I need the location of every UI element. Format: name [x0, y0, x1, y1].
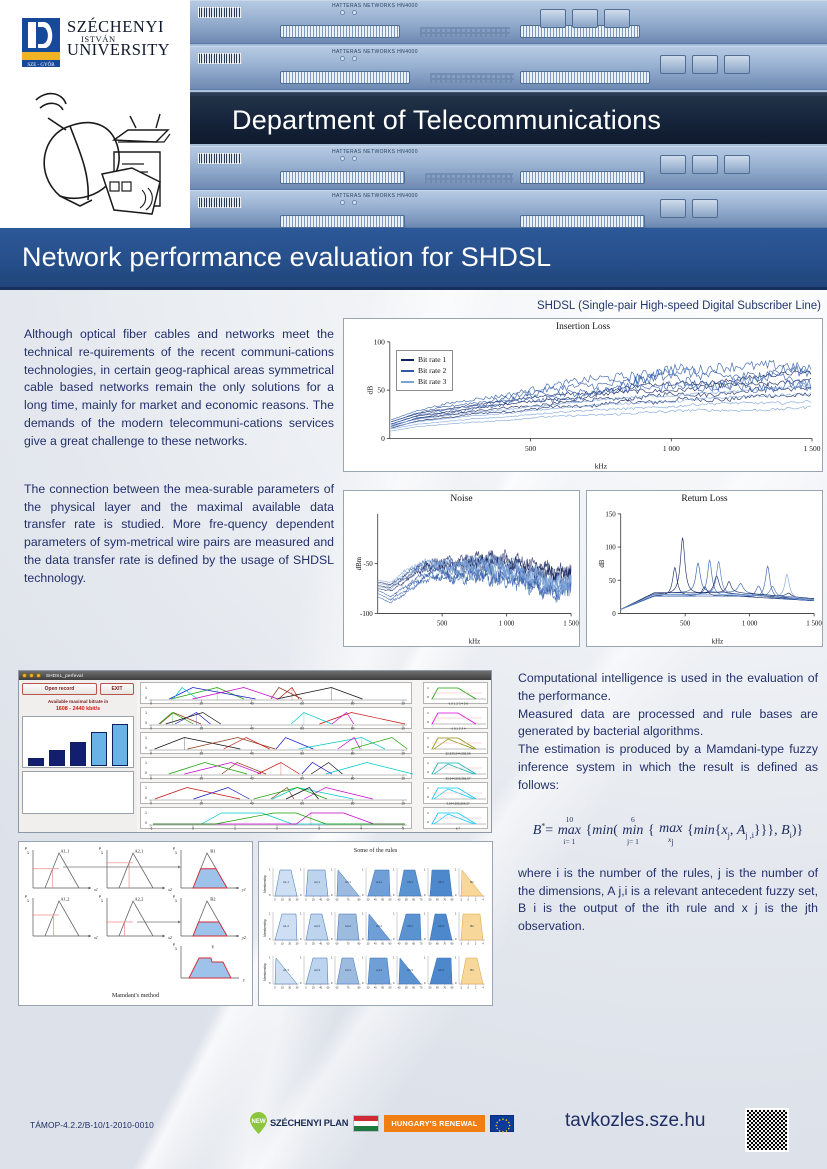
rules-caption: Some of the rules	[259, 847, 492, 854]
legend-label-series-3: Bit rate 3	[418, 377, 446, 386]
svg-text:20: 20	[288, 986, 291, 989]
svg-text:10: 10	[401, 802, 405, 805]
bitrate-bar	[70, 742, 86, 766]
svg-text:100: 100	[374, 337, 385, 346]
svg-text:μ: μ	[25, 845, 27, 850]
new-badge-label: NEW	[252, 1119, 266, 1125]
svg-text:60: 60	[336, 986, 339, 989]
svg-text:50: 50	[609, 578, 616, 585]
rule-set-label: A1,2	[283, 924, 289, 928]
svg-text:0: 0	[424, 937, 426, 941]
hungarys-renewal-label: HUNGARY'S RENEWAL	[384, 1115, 484, 1132]
svg-text:60: 60	[381, 898, 384, 901]
legend-item: Bit rate 1	[401, 354, 446, 365]
svg-text:1: 1	[269, 868, 271, 872]
svg-text:70: 70	[443, 898, 446, 901]
svg-text:60: 60	[436, 898, 439, 901]
left-paragraph-1: Although optical fiber cables and networ…	[24, 326, 334, 451]
svg-text:-50: -50	[364, 561, 374, 568]
svg-text:1: 1	[145, 761, 147, 765]
svg-text:0: 0	[331, 981, 333, 985]
software-membership-pane: 10-1 0 1 2 3 4 5 610-1 0 1 2 3 41022,533…	[420, 680, 492, 833]
svg-text:A1,2: A1,2	[60, 897, 70, 903]
svg-text:70: 70	[347, 986, 350, 989]
svg-text:1: 1	[393, 956, 395, 960]
svg-text:2: 2	[276, 827, 278, 830]
svg-text:0: 0	[145, 771, 147, 775]
svg-text:1: 1	[424, 912, 426, 916]
svg-text:0: 0	[468, 898, 470, 901]
membership-axis-label: 22,533,544,555,56	[445, 751, 470, 755]
formula-min-3: min	[694, 823, 715, 838]
exit-button[interactable]: EXIT	[100, 683, 134, 695]
bitrate-caption: Available maximal bitrate in	[22, 699, 134, 705]
rule-set-label: A1,3	[283, 968, 289, 972]
svg-text:Membership: Membership	[263, 875, 267, 893]
crest-label: SZE - GYŐR	[27, 62, 55, 67]
svg-text:80: 80	[351, 702, 355, 705]
svg-text:80: 80	[351, 752, 355, 755]
bitrate-bar	[28, 758, 44, 766]
svg-text:B1: B1	[210, 849, 216, 854]
svg-text:x2: x2	[167, 935, 172, 940]
svg-text:50: 50	[429, 898, 432, 901]
bitrate-bar	[91, 732, 107, 766]
svg-text:70: 70	[420, 898, 423, 901]
membership-axis-label: 3,544,555,566,57	[446, 801, 470, 805]
svg-text:40: 40	[250, 752, 254, 755]
svg-text:0: 0	[269, 893, 271, 897]
svg-text:50: 50	[429, 942, 432, 945]
rule-set-label: A6,1	[438, 880, 444, 884]
rule-set-label: A5,1	[407, 880, 413, 884]
svg-text:60: 60	[412, 942, 415, 945]
svg-text:1: 1	[269, 956, 271, 960]
svg-text:0: 0	[468, 942, 470, 945]
membership-axis-label: 33,544,555,566,57	[445, 776, 470, 780]
mamdani-formula: B*= 10 max i= 1 {min( 6 min j= 1 { max x…	[518, 815, 818, 847]
rule-set-label: A1,1	[283, 880, 289, 884]
svg-text:-2: -2	[460, 898, 463, 901]
svg-text:dB: dB	[599, 559, 606, 567]
svg-text:0: 0	[150, 702, 152, 705]
svg-text:1: 1	[362, 912, 364, 916]
rule-set-label: A3,3	[345, 968, 351, 972]
svg-text:1: 1	[234, 827, 236, 830]
svg-text:A2,2: A2,2	[134, 897, 144, 903]
formula-equals: =	[545, 823, 553, 838]
mamdani-caption: Mamdani's method	[19, 992, 252, 999]
svg-text:1: 1	[331, 912, 333, 916]
svg-text:80: 80	[389, 986, 392, 989]
legend-insertion-loss: Bit rate 1 Bit rate 2 Bit rate 3	[396, 350, 453, 391]
poster-footer: TÁMOP-4.2.2/B-10/1-2010-0010 NEW SZÉCHEN…	[0, 1090, 827, 1169]
legend-item: Bit rate 2	[401, 365, 446, 376]
svg-text:1 500: 1 500	[804, 444, 821, 453]
poster-title-bar: Network performance evaluation for SHDSL	[0, 228, 827, 290]
svg-text:0: 0	[468, 986, 470, 989]
window-title: SHDSL_perfeval	[46, 673, 83, 678]
svg-text:1: 1	[362, 956, 364, 960]
rule-set-label: A2,2	[314, 924, 320, 928]
svg-text:1: 1	[145, 686, 147, 690]
svg-text:0: 0	[427, 745, 429, 749]
svg-text:1: 1	[427, 761, 429, 765]
formula-inner-min-lower: j= 1	[622, 838, 643, 846]
svg-text:60: 60	[300, 702, 304, 705]
svg-text:40: 40	[250, 802, 254, 805]
svg-text:40: 40	[398, 942, 401, 945]
legend-swatch-series-2	[401, 370, 414, 372]
svg-text:70: 70	[420, 942, 423, 945]
svg-text:50: 50	[429, 986, 432, 989]
map-pin-icon: NEW	[250, 1112, 267, 1134]
svg-text:80: 80	[451, 898, 454, 901]
svg-text:80: 80	[358, 942, 361, 945]
svg-text:x1: x1	[93, 935, 98, 940]
svg-text:1: 1	[427, 786, 429, 790]
svg-text:500: 500	[680, 620, 691, 627]
svg-text:60: 60	[300, 777, 304, 780]
svg-text:x1: x1	[93, 887, 98, 892]
legend-label-series-2: Bit rate 2	[418, 366, 446, 375]
svg-text:1: 1	[145, 736, 147, 740]
svg-text:0: 0	[274, 898, 276, 901]
window-close-icon[interactable]	[22, 673, 27, 678]
svg-text:1 000: 1 000	[663, 444, 680, 453]
svg-text:1: 1	[427, 686, 429, 690]
svg-text:μ: μ	[173, 845, 175, 850]
svg-text:1: 1	[455, 868, 457, 872]
rule-set-label: A4,1	[376, 880, 382, 884]
svg-text:1: 1	[427, 711, 429, 715]
svg-text:dB: dB	[365, 386, 374, 395]
svg-text:1: 1	[300, 912, 302, 916]
svg-text:A1,1: A1,1	[60, 849, 70, 855]
svg-text:20: 20	[200, 802, 204, 805]
svg-text:1: 1	[145, 811, 147, 815]
bitrate-bar-chart	[22, 716, 134, 768]
svg-text:0: 0	[145, 696, 147, 700]
svg-text:20: 20	[200, 702, 204, 705]
department-title: Department of Telecommunications	[232, 105, 661, 136]
svg-text:1 000: 1 000	[499, 620, 515, 627]
rule-set-label: A6,3	[438, 968, 444, 972]
svg-text:40: 40	[374, 898, 377, 901]
university-crest-icon: SZE - GYŐR	[22, 18, 60, 67]
svg-text:60: 60	[436, 942, 439, 945]
svg-text:1 500: 1 500	[563, 620, 579, 627]
svg-text:-2: -2	[460, 942, 463, 945]
svg-text:kHz: kHz	[712, 639, 724, 645]
svg-text:1: 1	[175, 946, 178, 951]
svg-text:0: 0	[393, 893, 395, 897]
svg-text:0: 0	[192, 827, 194, 830]
svg-text:Y: Y	[211, 945, 215, 950]
svg-text:0: 0	[424, 981, 426, 985]
chart-return-loss: Return Loss 0501001505001 0001 500kHzdB	[586, 490, 823, 647]
software-fuzzy-plots-pane: 0204060801010020406080101002040608010100…	[137, 680, 420, 833]
rules-diagram: Membership10A1,1010203010A2,1020406010A3…	[259, 856, 494, 1001]
svg-text:50: 50	[377, 386, 385, 395]
svg-text:0: 0	[150, 777, 152, 780]
svg-text:60: 60	[381, 986, 384, 989]
membership-plot: 1033,544,555,566,57	[423, 757, 488, 779]
svg-text:40: 40	[374, 986, 377, 989]
legend-swatch-series-3	[401, 381, 414, 383]
svg-text:10: 10	[401, 777, 405, 780]
svg-text:60: 60	[327, 942, 330, 945]
svg-text:1: 1	[101, 898, 104, 903]
project-code: TÁMOP-4.2.2/B-10/1-2010-0010	[30, 1120, 154, 1130]
membership-plot: 103,544,555,566,57	[423, 782, 488, 804]
svg-text:30: 30	[296, 986, 299, 989]
right-text-column: Computational intelligence is used in th…	[518, 670, 818, 936]
svg-text:60: 60	[327, 898, 330, 901]
membership-axis-label: -1 0 1 2 3 4	[450, 726, 466, 730]
svg-text:0: 0	[427, 795, 429, 799]
card-some-of-the-rules: Some of the rules Membership10A1,1010203…	[258, 841, 493, 1006]
svg-text:1: 1	[145, 711, 147, 715]
rule-set-label: A2,1	[314, 880, 320, 884]
svg-text:80: 80	[389, 942, 392, 945]
fuzzy-set-plot: 0204060801010	[140, 707, 412, 729]
svg-text:y2: y2	[241, 935, 246, 940]
svg-text:40: 40	[319, 898, 322, 901]
svg-text:20: 20	[288, 942, 291, 945]
bitrate-value: 1608 - 2440 kbit/s	[22, 706, 134, 712]
svg-text:0: 0	[331, 937, 333, 941]
svg-text:y1: y1	[241, 887, 246, 892]
window-minimize-icon[interactable]	[29, 673, 34, 678]
svg-text:40: 40	[398, 986, 401, 989]
formula-paren-1: (	[613, 823, 618, 838]
software-blank-panel	[22, 771, 134, 814]
svg-text:0: 0	[612, 611, 616, 618]
eu-flag-icon	[490, 1115, 514, 1132]
software-screenshot: SHDSL_perfeval Open record EXIT Availabl…	[18, 670, 492, 833]
svg-text:150: 150	[605, 511, 616, 518]
svg-text:1: 1	[269, 912, 271, 916]
formula-inner-min-label: min	[622, 824, 643, 838]
right-paragraph-2: Measured data are processed and rule bas…	[518, 706, 818, 742]
svg-text:70: 70	[347, 898, 350, 901]
rule-set-label: A3,2	[345, 924, 351, 928]
svg-text:0: 0	[455, 937, 457, 941]
svg-text:20: 20	[312, 986, 315, 989]
svg-text:0: 0	[393, 937, 395, 941]
svg-text:500: 500	[437, 620, 448, 627]
svg-text:0: 0	[362, 893, 364, 897]
rule-set-label: A3,1	[345, 880, 351, 884]
fuzzy-set-plot: 0204060801010	[140, 682, 412, 704]
svg-text:60: 60	[412, 898, 415, 901]
svg-text:1: 1	[427, 811, 429, 815]
svg-text:0: 0	[427, 720, 429, 724]
svg-text:0: 0	[455, 893, 457, 897]
svg-text:20: 20	[367, 898, 370, 901]
plot-area-noise: -100-505001 0001 500kHzdBm	[344, 504, 579, 645]
svg-text:0: 0	[145, 746, 147, 750]
svg-text:1: 1	[101, 850, 104, 855]
svg-text:5: 5	[402, 827, 404, 830]
svg-text:0: 0	[305, 986, 307, 989]
formula-max2-label: max	[659, 822, 682, 836]
mamdani-diagram: 1μx1A1,11μx2A2,11μy1B11μx1A1,21μx2A2,21μ…	[19, 842, 254, 992]
legend-label-series-1: Bit rate 1	[418, 355, 446, 364]
svg-text:10: 10	[281, 942, 284, 945]
svg-text:100: 100	[605, 545, 616, 552]
window-titlebar: SHDSL_perfeval	[19, 671, 491, 680]
svg-text:10: 10	[281, 986, 284, 989]
svg-text:80: 80	[451, 942, 454, 945]
svg-text:60: 60	[412, 986, 415, 989]
svg-text:0: 0	[150, 727, 152, 730]
rule-set-label: A5,2	[407, 924, 413, 928]
svg-text:-2: -2	[460, 986, 463, 989]
svg-text:-1: -1	[150, 827, 153, 830]
chart-insertion-loss: Insertion Loss 0501005001 0001 500kHzdB …	[343, 318, 823, 472]
university-name-line3: UNIVERSITY	[67, 42, 170, 59]
svg-text:10: 10	[281, 898, 284, 901]
formula-max-lower: i= 1	[558, 838, 581, 846]
svg-text:μ: μ	[99, 893, 101, 898]
svg-text:4: 4	[482, 898, 484, 901]
svg-text:40: 40	[250, 777, 254, 780]
svg-text:40: 40	[319, 986, 322, 989]
svg-text:0: 0	[427, 820, 429, 824]
svg-text:0: 0	[269, 981, 271, 985]
svg-text:0: 0	[274, 986, 276, 989]
formula-term-B: B	[781, 823, 790, 838]
svg-text:0: 0	[145, 821, 147, 825]
svg-text:0: 0	[145, 796, 147, 800]
svg-text:0: 0	[300, 937, 302, 941]
rule-set-label: B3	[470, 968, 474, 972]
svg-text:x2: x2	[167, 887, 172, 892]
svg-text:20: 20	[288, 898, 291, 901]
rule-set-label: A6,2	[438, 924, 444, 928]
svg-text:μ: μ	[173, 941, 175, 946]
svg-text:70: 70	[420, 986, 423, 989]
rule-set-label: A2,3	[314, 968, 320, 972]
svg-text:1: 1	[331, 868, 333, 872]
svg-text:30: 30	[296, 942, 299, 945]
svg-text:4: 4	[482, 942, 484, 945]
svg-text:80: 80	[451, 986, 454, 989]
left-paragraph-2: The connection between the mea-surable p…	[24, 481, 334, 588]
svg-text:1: 1	[393, 912, 395, 916]
svg-text:60: 60	[300, 752, 304, 755]
poster-title: Network performance evaluation for SHDSL	[22, 242, 551, 273]
membership-plot: 10-1 0 1 2 3 4 5 6	[423, 682, 488, 704]
card-mamdani-method: 1μx1A1,11μx2A2,11μy1B11μx1A1,21μx2A2,21μ…	[18, 841, 253, 1006]
svg-text:50: 50	[405, 986, 408, 989]
membership-axis-label: 6 7	[456, 826, 461, 830]
svg-text:μ: μ	[25, 893, 27, 898]
bitrate-bar	[112, 724, 128, 766]
svg-text:500: 500	[525, 444, 536, 453]
website-url: tavkozles.sze.hu	[565, 1110, 705, 1132]
department-band: Department of Telecommunications	[190, 96, 827, 144]
svg-text:60: 60	[336, 942, 339, 945]
svg-text:1: 1	[300, 956, 302, 960]
svg-text:1: 1	[424, 868, 426, 872]
fuzzy-set-plot: 0204060801010	[140, 782, 412, 804]
svg-text:20: 20	[312, 942, 315, 945]
rule-set-label: B1	[470, 880, 474, 884]
svg-text:dBm: dBm	[356, 556, 363, 570]
svg-text:50: 50	[405, 942, 408, 945]
svg-text:40: 40	[398, 898, 401, 901]
svg-text:20: 20	[367, 942, 370, 945]
svg-text:60: 60	[300, 802, 304, 805]
svg-text:1: 1	[27, 850, 30, 855]
svg-text:1: 1	[175, 898, 178, 903]
svg-text:0: 0	[305, 898, 307, 901]
formula-explanation: where i is the number of the rules, j is…	[518, 865, 818, 936]
svg-text:μ: μ	[173, 893, 175, 898]
svg-text:Membership: Membership	[263, 919, 267, 937]
svg-text:1: 1	[27, 898, 30, 903]
svg-text:20: 20	[200, 752, 204, 755]
svg-text:1: 1	[427, 736, 429, 740]
svg-text:0: 0	[300, 893, 302, 897]
svg-text:-100: -100	[360, 611, 373, 618]
legend-swatch-series-1	[401, 359, 414, 361]
svg-text:1: 1	[362, 868, 364, 872]
membership-plot: 1022,533,544,555,56	[423, 732, 488, 754]
rule-set-label: A5,3	[407, 968, 413, 972]
svg-text:0: 0	[331, 893, 333, 897]
svg-text:0: 0	[381, 434, 385, 443]
szechenyi-plan-logo: NEW SZÉCHENYI PLAN	[250, 1112, 348, 1134]
window-maximize-icon[interactable]	[36, 673, 41, 678]
svg-text:Membership: Membership	[263, 963, 267, 981]
rule-set-label: B2	[470, 924, 474, 928]
logo-panel: SZE - GYŐR SZÉCHENYI ISTVÁN UNIVERSITY	[0, 0, 190, 228]
svg-text:μ: μ	[99, 845, 101, 850]
formula-min-1: min	[592, 823, 613, 838]
svg-text:80: 80	[389, 898, 392, 901]
svg-text:2: 2	[475, 986, 477, 989]
fuzzy-set-plot: 0204060801010	[140, 757, 412, 779]
software-left-pane: Open record EXIT Available maximal bitra…	[19, 680, 137, 833]
chart-title-insertion-loss: Insertion Loss	[344, 319, 822, 332]
open-record-button[interactable]: Open record	[22, 683, 97, 695]
svg-text:1: 1	[300, 868, 302, 872]
formula-brace-3: {	[687, 823, 694, 838]
svg-text:0: 0	[150, 802, 152, 805]
svg-text:4: 4	[482, 986, 484, 989]
legend-item: Bit rate 3	[401, 376, 446, 387]
svg-text:1: 1	[145, 786, 147, 790]
svg-text:A2,1: A2,1	[134, 849, 144, 855]
membership-plot: 10-1 0 1 2 3 4	[423, 707, 488, 729]
svg-text:80: 80	[351, 777, 355, 780]
svg-text:2: 2	[475, 898, 477, 901]
svg-text:y: y	[242, 977, 245, 982]
svg-text:80: 80	[351, 727, 355, 730]
svg-text:1: 1	[455, 956, 457, 960]
svg-text:10: 10	[401, 702, 405, 705]
funding-logos: NEW SZÉCHENYI PLAN HUNGARY'S RENEWAL	[250, 1112, 514, 1134]
rule-set-label: A4,2	[376, 924, 382, 928]
svg-text:70: 70	[443, 986, 446, 989]
fuzzy-set-plot: 0204060801010	[140, 732, 412, 754]
svg-text:60: 60	[336, 898, 339, 901]
right-paragraph-3: The estimation is produced by a Mamdani-…	[518, 741, 818, 794]
